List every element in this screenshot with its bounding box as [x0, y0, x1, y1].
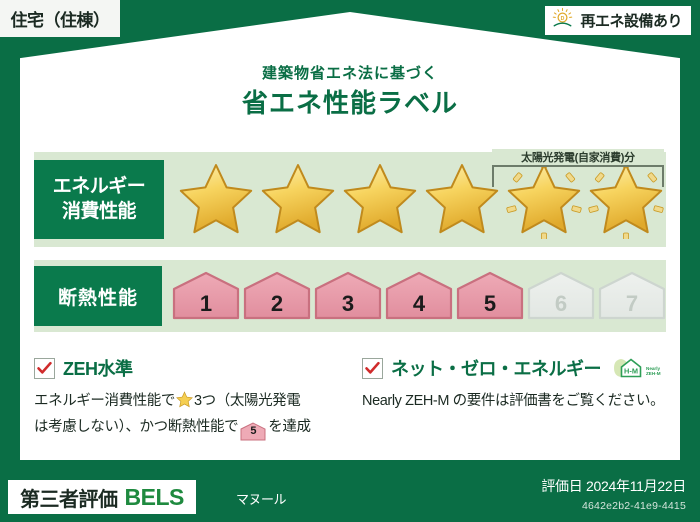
insulation-grade-value: 2	[271, 291, 283, 317]
category-tag: 住宅（住棟）	[0, 0, 120, 37]
star-filled	[422, 161, 502, 239]
insulation-performance-row: 断熱性能 1234567	[34, 260, 666, 332]
energy-label-line2: 消費性能	[62, 200, 136, 224]
energy-performance-label-chip: エネルギー 消費性能	[34, 160, 164, 239]
net-zero-title: ネット・ゼロ・エネルギー	[391, 355, 601, 381]
sun-renewable-icon: D	[551, 7, 574, 35]
zeh-checkbox[interactable]	[34, 358, 55, 379]
insulation-grade-6: 6	[527, 271, 595, 321]
label-id: 4642e2b2-41e9-4415	[582, 500, 686, 512]
title-subheading: 建築物省エネ法に基づく	[0, 62, 700, 83]
bels-logo-text: BELS	[125, 484, 184, 511]
svg-text:D: D	[561, 16, 565, 22]
net-zero-description: Nearly ZEH-M の要件は評価書をご覧ください。	[362, 390, 667, 413]
zeh-title: ZEH水準	[63, 355, 133, 381]
insulation-grade-value: 6	[555, 291, 567, 317]
insulation-grade-value: 7	[626, 291, 638, 317]
zeh-text-1: エネルギー消費性能で	[34, 393, 175, 409]
insulation-grade-3: 3	[314, 271, 382, 321]
zeh-text-4: を達成	[268, 419, 310, 435]
insulation-grade-2: 2	[243, 271, 311, 321]
third-party-label: 第三者評価	[20, 483, 118, 512]
inline-grade-badge: 5	[240, 422, 266, 439]
insulation-grade-7: 7	[598, 271, 666, 321]
inline-star-icon	[176, 391, 193, 416]
insulation-grade-value: 5	[484, 291, 496, 317]
maker-name: マヌール	[236, 489, 286, 508]
renewable-badge-label: 再エネ設備あり	[580, 10, 682, 31]
star-filled	[176, 161, 256, 239]
net-zero-heading: ネット・ゼロ・エネルギー H-M Nearly ZEH-M	[362, 355, 667, 381]
inline-grade-value: 5	[240, 422, 266, 441]
insulation-grade-value: 3	[342, 291, 354, 317]
energy-label-line1: エネルギー	[53, 175, 146, 199]
solar-bracket	[492, 165, 664, 187]
energy-performance-label: 住宅（住棟） D 再エネ設備あり 建築物省エネ法に基づく	[0, 0, 700, 522]
zeh-description: エネルギー消費性能で3つ（太陽光発電は考慮しない）、かつ断熱性能で5を達成	[34, 390, 344, 440]
insulation-grade-1: 1	[172, 271, 240, 321]
star-filled	[340, 161, 420, 239]
insulation-grade-4: 4	[385, 271, 453, 321]
insulation-grade-5: 5	[456, 271, 524, 321]
zeh-m-logo-main: H-M	[624, 366, 638, 375]
zeh-m-logo-sub2: ZEH-M	[646, 371, 661, 376]
zeh-section: ZEH水準 エネルギー消費性能で3つ（太陽光発電は考慮しない）、かつ断熱性能で5…	[34, 355, 344, 440]
net-zero-energy-section: ネット・ゼロ・エネルギー H-M Nearly ZEH-M Nearly ZEH…	[362, 355, 667, 413]
insulation-label-chip: 断熱性能	[34, 266, 162, 326]
insulation-grade-value: 1	[200, 291, 212, 317]
net-zero-checkbox[interactable]	[362, 358, 383, 379]
evaluation-date: 評価日 2024年11月22日	[541, 476, 686, 496]
zeh-heading: ZEH水準	[34, 355, 344, 381]
renewable-equipment-badge: D 再エネ設備あり	[544, 5, 692, 36]
zeh-m-logo-icon: H-M Nearly ZEH-M	[612, 355, 662, 381]
star-filled	[258, 161, 338, 239]
bels-footer-box: 第三者評価 BELS	[8, 480, 196, 514]
insulation-grade-value: 4	[413, 291, 425, 317]
solar-caption: 太陽光発電(自家消費)分	[492, 149, 664, 165]
page-title: 省エネ性能ラベル	[0, 83, 700, 120]
zeh-text-3: は考慮しない）、かつ断熱性能で	[34, 419, 238, 435]
zeh-text-2: 3つ（太陽光発電	[194, 393, 300, 409]
insulation-grade-list: 1234567	[162, 260, 666, 332]
